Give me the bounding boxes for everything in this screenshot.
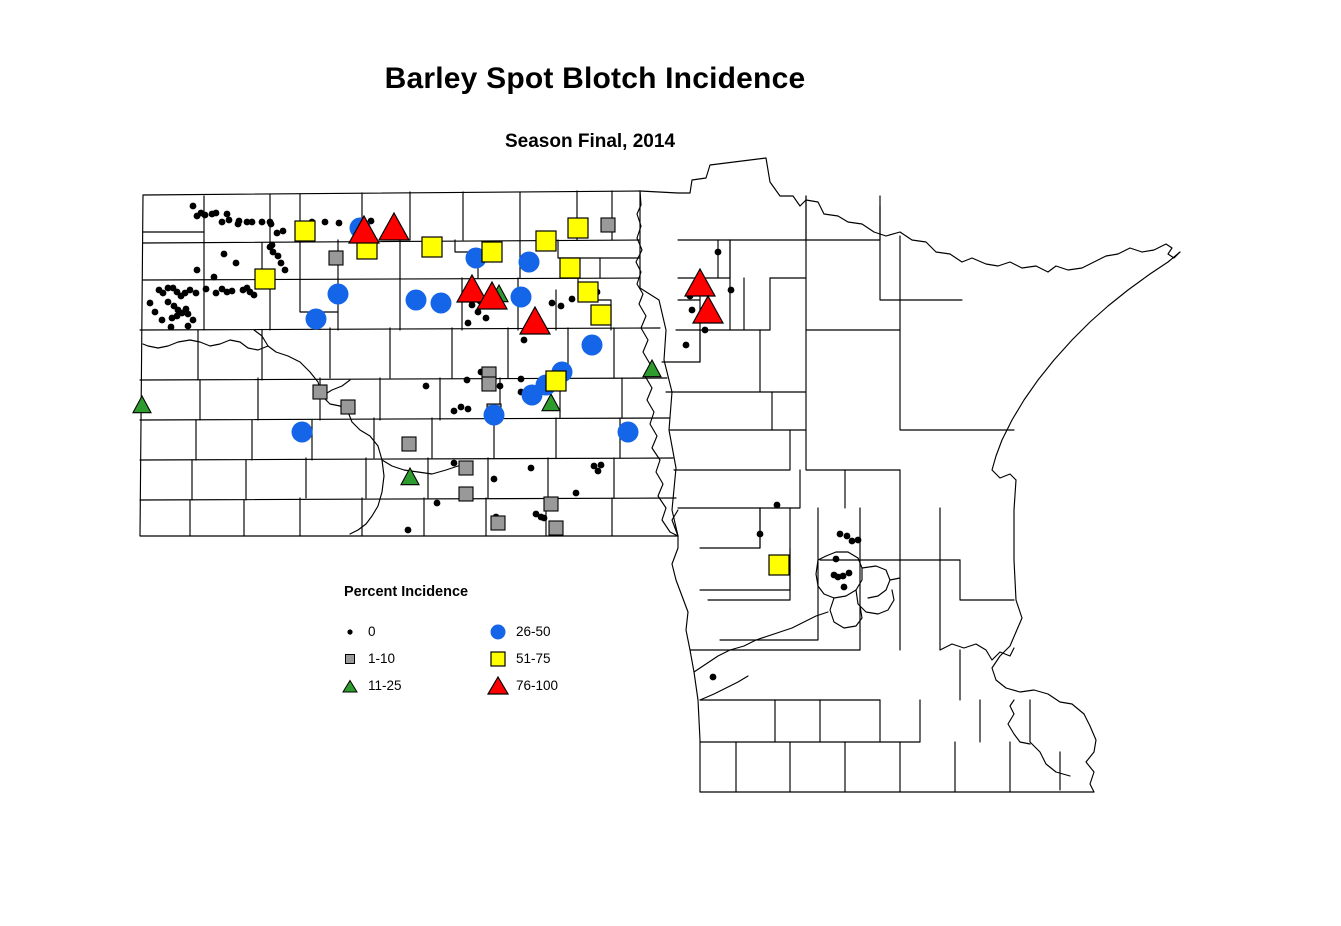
marker-0	[434, 500, 441, 507]
marker-51-75	[560, 258, 580, 278]
marker-0	[855, 537, 862, 544]
marker-76-100	[379, 213, 409, 240]
marker-0	[203, 286, 210, 293]
marker-0	[451, 460, 458, 467]
marker-0	[423, 383, 430, 390]
marker-0	[518, 376, 525, 383]
marker-0	[194, 213, 201, 220]
yellow-square-icon	[484, 648, 512, 670]
marker-0	[280, 228, 287, 235]
marker-0	[595, 468, 602, 475]
marker-0	[689, 307, 696, 314]
marker-11-25	[643, 360, 661, 377]
marker-0	[229, 288, 236, 295]
marker-76-100	[685, 269, 715, 296]
marker-11-25	[133, 396, 151, 413]
marker-0	[168, 324, 175, 331]
marker-1-10	[601, 218, 615, 232]
marker-0	[235, 221, 242, 228]
marker-1-10	[313, 385, 327, 399]
marker-0	[558, 303, 565, 310]
marker-51-75	[536, 231, 556, 251]
legend-item-11-25: 11-25	[336, 672, 402, 699]
legend-label-51-75: 51-75	[512, 651, 551, 666]
marker-1-10	[341, 400, 355, 414]
legend-item-1-10: 1-10	[336, 645, 402, 672]
green-triangle-icon	[336, 677, 364, 695]
marker-0	[464, 377, 471, 384]
marker-0	[849, 538, 856, 545]
marker-0	[224, 211, 231, 218]
marker-0	[194, 267, 201, 274]
marker-0	[465, 320, 472, 327]
marker-1-10	[491, 516, 505, 530]
marker-0	[405, 527, 412, 534]
marker-0	[702, 327, 709, 334]
marker-0	[569, 296, 576, 303]
marker-0	[549, 300, 556, 307]
marker-0	[169, 315, 176, 322]
marker-0	[465, 406, 472, 413]
legend-label-76-100: 76-100	[512, 678, 558, 693]
marker-51-75	[546, 371, 566, 391]
marker-0	[249, 219, 256, 226]
marker-1-10	[544, 497, 558, 511]
marker-0	[213, 210, 220, 217]
marker-26-50	[431, 293, 452, 314]
marker-0	[275, 253, 282, 260]
legend-label-0: 0	[364, 624, 376, 639]
marker-0	[282, 267, 289, 274]
marker-0	[278, 260, 285, 267]
legend-item-0: 0	[336, 618, 402, 645]
marker-0	[841, 584, 848, 591]
legend: Percent Incidence 0 1-10	[336, 584, 596, 716]
marker-1-10	[459, 487, 473, 501]
legend-column-right: 26-50 51-75 76-100	[484, 618, 558, 699]
marker-0	[728, 287, 735, 294]
legend-item-76-100: 76-100	[484, 672, 558, 699]
legend-label-1-10: 1-10	[364, 651, 395, 666]
marker-51-75	[295, 221, 315, 241]
marker-0	[521, 337, 528, 344]
marker-0	[683, 342, 690, 349]
legend-title: Percent Incidence	[344, 584, 596, 600]
marker-0	[598, 462, 605, 469]
marker-0	[165, 285, 172, 292]
marker-0	[322, 219, 329, 226]
county-boundaries	[140, 158, 1180, 792]
legend-item-26-50: 26-50	[484, 618, 558, 645]
marker-51-75	[568, 218, 588, 238]
marker-0	[469, 302, 476, 309]
marker-0	[211, 274, 218, 281]
marker-0	[715, 249, 722, 256]
marker-26-50	[328, 284, 349, 305]
marker-0	[336, 220, 343, 227]
legend-column-left: 0 1-10 11-25	[336, 618, 402, 699]
marker-26-50	[484, 405, 505, 426]
marker-0	[221, 251, 228, 258]
marker-26-50	[306, 309, 327, 330]
marker-26-50	[618, 422, 639, 443]
marker-51-75	[578, 282, 598, 302]
marker-0	[165, 299, 172, 306]
legend-label-26-50: 26-50	[512, 624, 551, 639]
marker-0	[226, 217, 233, 224]
marker-0	[451, 408, 458, 415]
state-county-map	[0, 0, 1341, 926]
marker-0	[483, 315, 490, 322]
marker-1-10	[482, 377, 496, 391]
marker-1-10	[549, 521, 563, 535]
marker-0	[267, 219, 274, 226]
marker-0	[475, 309, 482, 316]
marker-0	[573, 490, 580, 497]
marker-0	[774, 502, 781, 509]
marker-1-10	[459, 461, 473, 475]
map-canvas	[0, 0, 1341, 926]
dot-icon	[336, 623, 364, 641]
red-triangle-icon	[484, 674, 512, 698]
marker-0	[541, 515, 548, 522]
marker-1-10	[329, 251, 343, 265]
marker-0	[710, 674, 717, 681]
marker-0	[259, 219, 266, 226]
marker-0	[458, 404, 465, 411]
marker-0	[233, 260, 240, 267]
marker-51-75	[482, 242, 502, 262]
marker-0	[185, 323, 192, 330]
marker-0	[185, 311, 192, 318]
marker-0	[251, 292, 258, 299]
legend-item-51-75: 51-75	[484, 645, 558, 672]
marker-0	[190, 203, 197, 210]
blue-circle-icon	[484, 621, 512, 643]
marker-0	[152, 309, 159, 316]
marker-26-50	[406, 290, 427, 311]
marker-0	[190, 317, 197, 324]
marker-51-75	[422, 237, 442, 257]
marker-0	[193, 290, 200, 297]
marker-51-75	[255, 269, 275, 289]
marker-0	[497, 383, 504, 390]
marker-76-100	[520, 307, 550, 334]
marker-26-50	[519, 252, 540, 273]
marker-26-50	[522, 385, 543, 406]
marker-0	[187, 287, 194, 294]
marker-51-75	[769, 555, 789, 575]
marker-0	[213, 290, 220, 297]
marker-11-25	[542, 394, 560, 411]
marker-0	[159, 317, 166, 324]
marker-0	[219, 219, 226, 226]
marker-0	[846, 570, 853, 577]
legend-label-11-25: 11-25	[364, 678, 402, 693]
marker-26-50	[511, 287, 532, 308]
marker-26-50	[292, 422, 313, 443]
marker-0	[202, 212, 209, 219]
marker-0	[491, 476, 498, 483]
marker-0	[833, 556, 840, 563]
marker-1-10	[402, 437, 416, 451]
marker-0	[844, 533, 851, 540]
marker-0	[840, 573, 847, 580]
marker-26-50	[582, 335, 603, 356]
marker-0	[528, 465, 535, 472]
marker-0	[837, 531, 844, 538]
marker-0	[147, 300, 154, 307]
map-page: Barley Spot Blotch Incidence Season Fina…	[0, 0, 1341, 926]
marker-0	[757, 531, 764, 538]
gray-square-icon	[336, 650, 364, 668]
marker-0	[274, 230, 281, 237]
marker-51-75	[591, 305, 611, 325]
marker-0	[160, 290, 167, 297]
